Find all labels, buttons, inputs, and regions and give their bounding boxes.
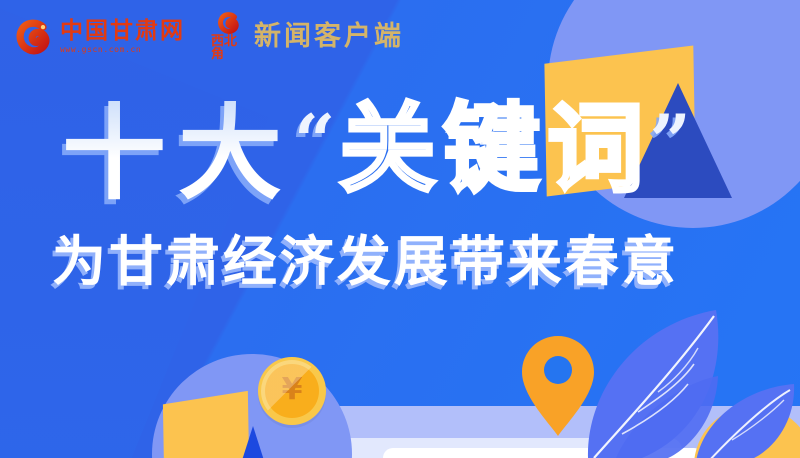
poster-canvas: ¥ 中国甘肃网 www.gscn.com.cn [0, 0, 800, 458]
gscn-logo[interactable]: 中国甘肃网 www.gscn.com.cn [16, 19, 185, 55]
quote-close-mark: ” [649, 105, 690, 177]
headline-char-da: 大 [178, 101, 282, 205]
xbj-app-logo[interactable]: 西北角 新闻客户端 [211, 12, 404, 61]
xbj-mark: 西北角 [211, 12, 247, 61]
location-pin-icon [520, 334, 596, 438]
decorative-triangle-bottom-left [237, 426, 269, 458]
spiral-logo-icon [16, 19, 52, 55]
spiral-logo-icon [218, 12, 240, 34]
header-logos: 中国甘肃网 www.gscn.com.cn 西北角 新闻客户端 [0, 0, 404, 61]
headline-char-guan: 关 [339, 101, 435, 197]
quote-open-mark: “ [294, 105, 335, 177]
yuan-coin-icon: ¥ [258, 357, 326, 425]
gscn-text-block: 中国甘肃网 www.gscn.com.cn [60, 20, 185, 54]
leaf-decoration-icon [576, 272, 800, 458]
subtitle-text: 为甘肃经济发展带来春意 [52, 232, 679, 292]
coin-gloss [261, 360, 323, 422]
app-name-label: 新闻客户端 [254, 23, 404, 50]
headline-row: 十 大 “ 关 键 词 ” [62, 101, 691, 205]
gscn-name: 中国甘肃网 [60, 20, 185, 43]
headline-char-shi: 十 [62, 101, 166, 205]
xbj-name: 西北角 [211, 35, 247, 61]
gscn-url: www.gscn.com.cn [60, 46, 185, 54]
headline-char-jian: 键 [443, 101, 539, 197]
headline-char-ci: 词 [547, 101, 643, 197]
